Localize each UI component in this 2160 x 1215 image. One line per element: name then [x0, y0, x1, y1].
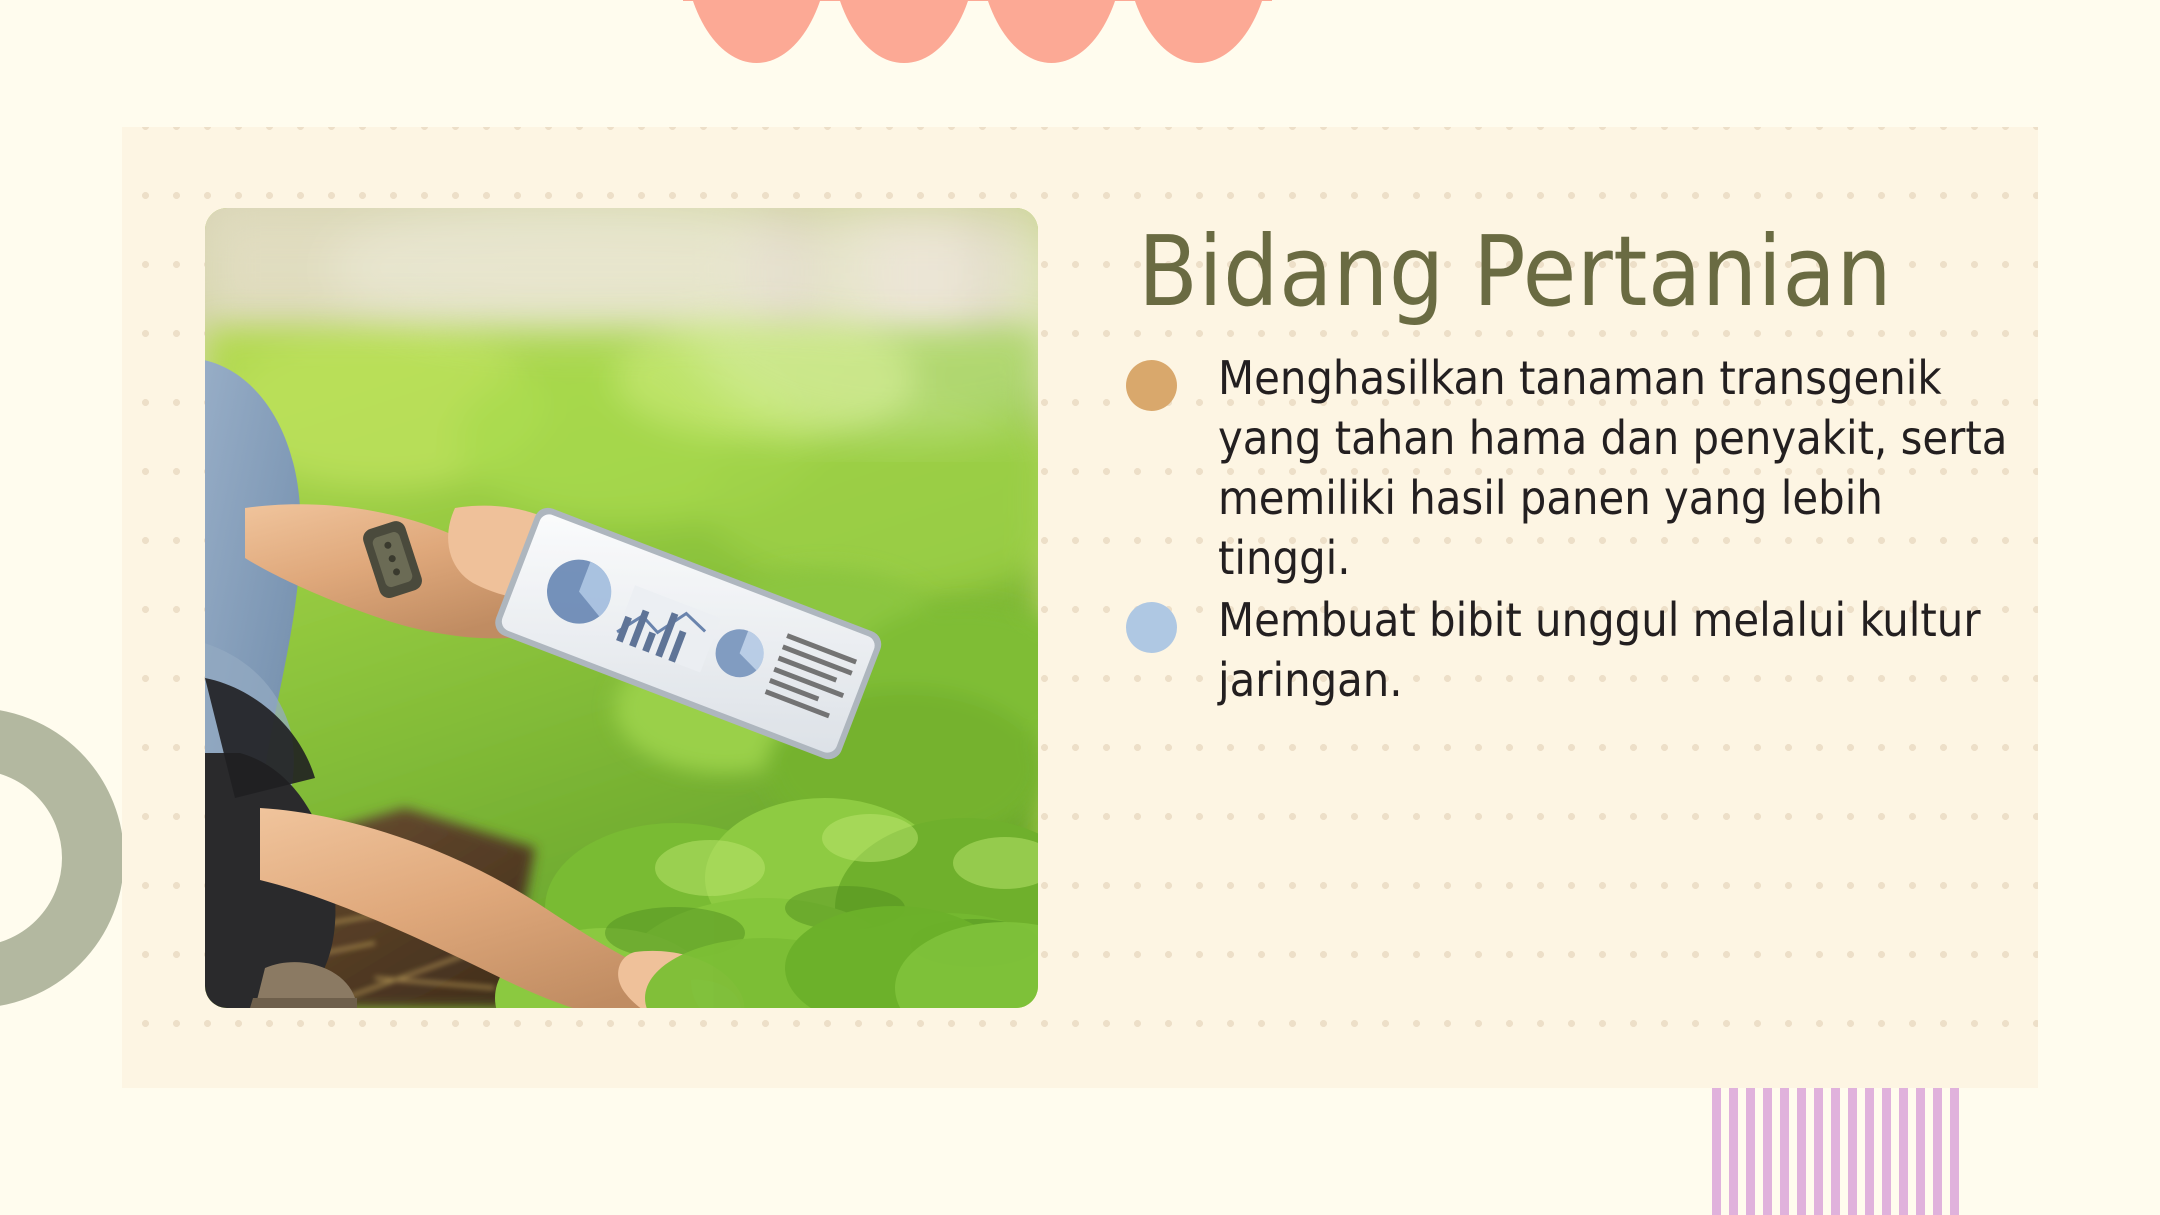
slide-canvas: Bidang Pertanian Menghasilkan tanaman tr…	[0, 0, 2160, 1215]
list-item: Membuat bibit unggul melalui kultur jari…	[1126, 591, 2026, 711]
list-item: Menghasilkan tanaman transgenik yang tah…	[1126, 349, 2026, 589]
circle-bullet-blue-icon	[1126, 602, 1177, 653]
farming-photo-illustration	[205, 208, 1038, 1008]
page-title: Bidang Pertanian	[1138, 218, 2026, 327]
farming-photo	[205, 208, 1038, 1008]
text-column: Bidang Pertanian Menghasilkan tanaman tr…	[1126, 218, 2026, 713]
scallop-bar	[683, 0, 1272, 1]
circle-bullet-tan-icon	[1126, 360, 1177, 411]
bullet-text: Menghasilkan tanaman transgenik yang tah…	[1218, 351, 2007, 585]
scalloped-band-decoration	[683, 0, 1272, 63]
bullet-text: Membuat bibit unggul melalui kultur jari…	[1218, 593, 1981, 707]
bullet-list: Menghasilkan tanaman transgenik yang tah…	[1126, 349, 2026, 711]
scallop-lobe	[683, 0, 830, 63]
scallop-lobe	[1125, 0, 1272, 63]
scallop-lobe	[978, 0, 1125, 63]
sage-ring-decoration	[0, 708, 124, 1008]
scallop-lobe	[830, 0, 977, 63]
